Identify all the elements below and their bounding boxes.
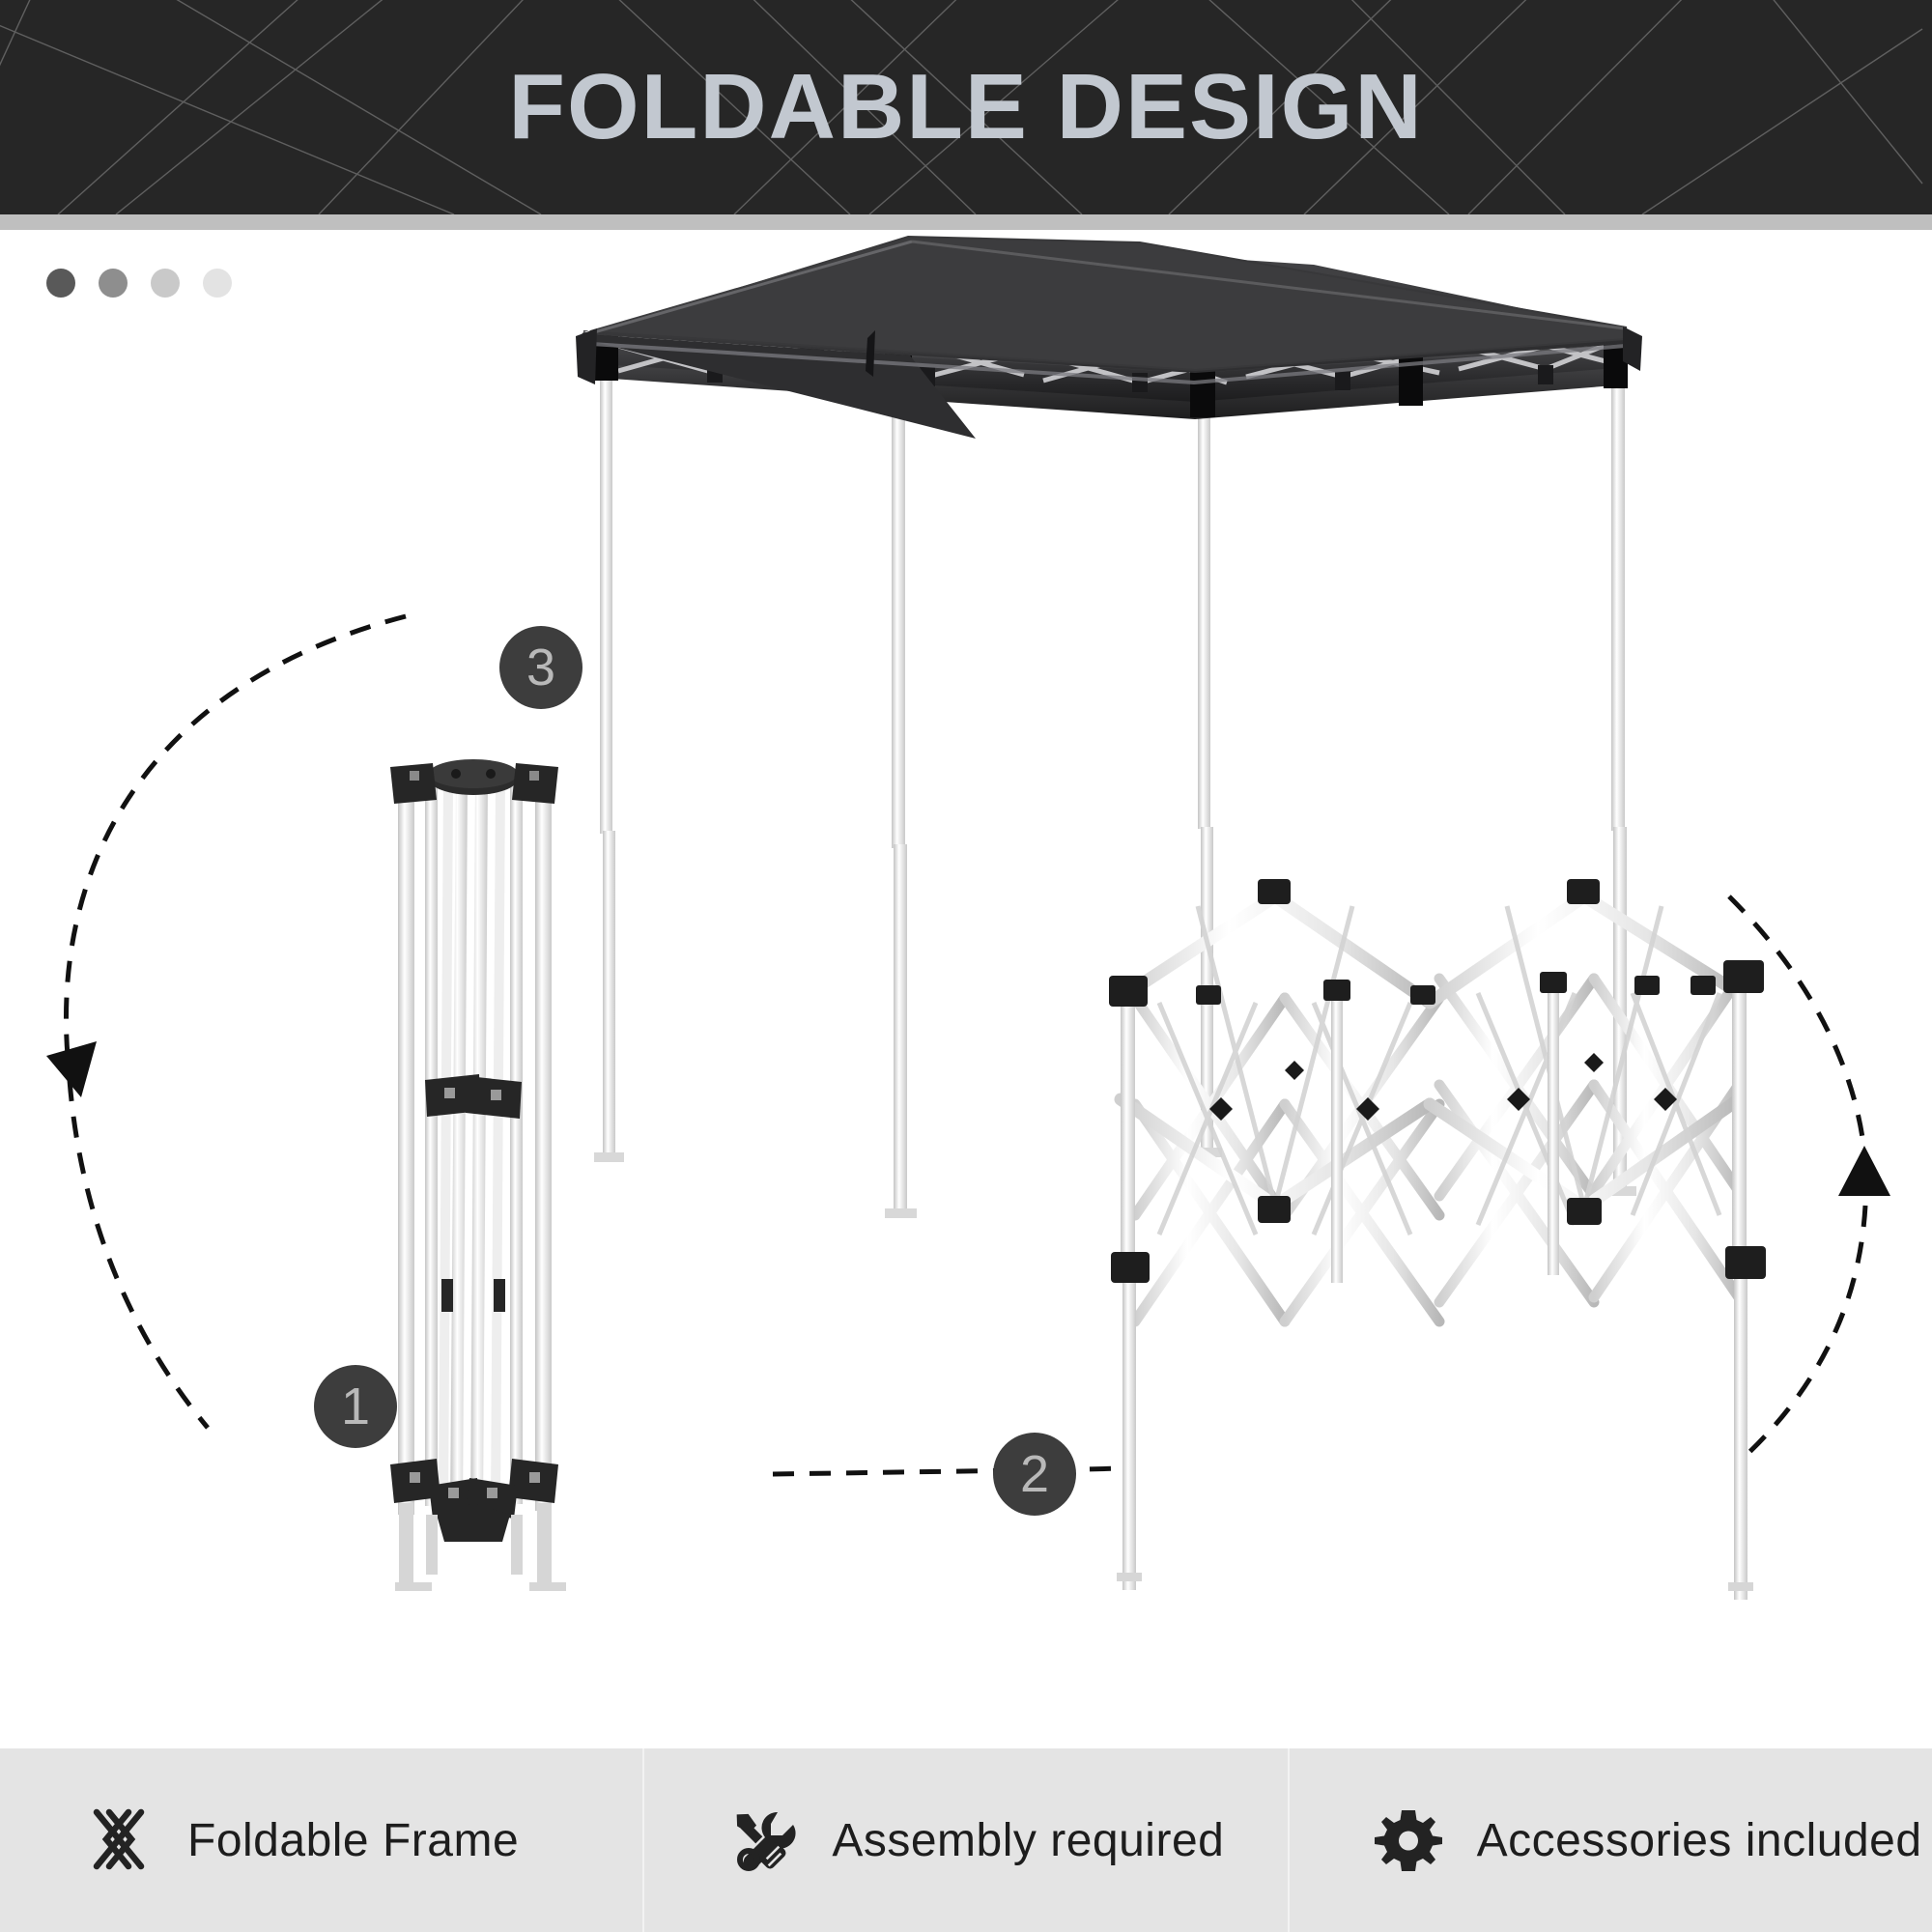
progress-dot-4 xyxy=(203,269,232,298)
expanded-frame-graphic xyxy=(1109,879,1766,1600)
progress-dot-1 xyxy=(46,269,75,298)
folded-frame-mid-brackets xyxy=(425,1074,522,1119)
header-banner: FOLDABLE DESIGN xyxy=(0,0,1932,214)
step-badge-2: 2 xyxy=(993,1433,1076,1516)
feature-item-assembly-required: Assembly required xyxy=(642,1748,1287,1932)
canopy-legs xyxy=(594,336,1636,1218)
header-divider xyxy=(0,214,1932,230)
page-title: FOLDABLE DESIGN xyxy=(0,0,1932,214)
progress-dot-2 xyxy=(99,269,128,298)
feature-item-accessories-included: Accessories included xyxy=(1288,1748,1932,1932)
feature-label-accessories-included: Accessories included xyxy=(1477,1814,1922,1867)
folded-frame-graphic xyxy=(390,759,566,1591)
rotation-arrow-right-head xyxy=(1838,1146,1890,1196)
step-badge-3: 3 xyxy=(499,626,582,709)
feature-label-assembly-required: Assembly required xyxy=(832,1814,1224,1867)
rotation-arrow-left xyxy=(66,616,406,1428)
foldable-frame-icon xyxy=(83,1804,155,1876)
step-badge-1: 1 xyxy=(314,1365,397,1448)
progress-dot-3 xyxy=(151,269,180,298)
feature-label-foldable-frame: Foldable Frame xyxy=(187,1814,519,1867)
feature-bar: Foldable Frame xyxy=(0,1748,1932,1932)
assembled-canopy-graphic xyxy=(576,236,1642,1218)
gear-icon xyxy=(1373,1804,1444,1876)
feature-item-foldable-frame: Foldable Frame xyxy=(0,1748,642,1932)
tools-icon xyxy=(727,1804,799,1876)
product-illustration-stage: 3 1 2 xyxy=(0,230,1932,1748)
progress-dots xyxy=(46,269,232,298)
